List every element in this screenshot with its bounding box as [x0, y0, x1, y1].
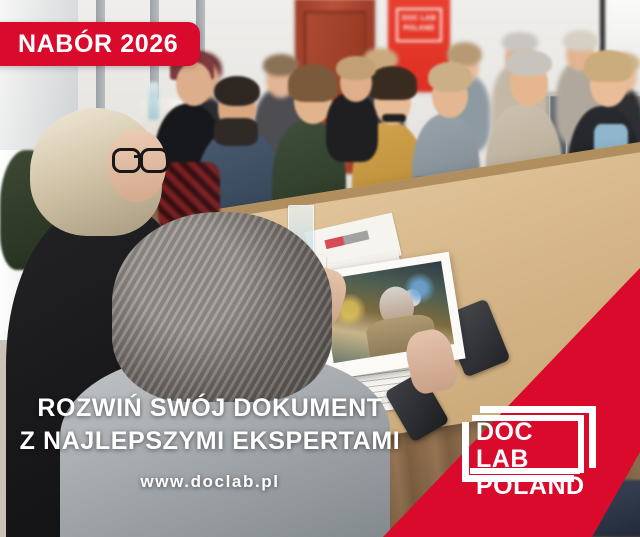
recruitment-badge-label: NABÓR 2026 — [18, 30, 178, 59]
audience-hair — [584, 50, 632, 82]
audience-hair — [288, 64, 338, 102]
audience-hair — [214, 76, 260, 106]
document-logo-mark — [324, 230, 369, 249]
audience-hair — [502, 32, 538, 52]
water-bottle — [148, 82, 159, 120]
headline-line-2: Z NAJLEPSZYMI EKSPERTAMI — [0, 425, 420, 458]
logo-frame-segment — [480, 406, 596, 413]
audience-member — [326, 92, 378, 162]
choker — [382, 114, 406, 122]
audience-hair — [336, 56, 376, 80]
banner-logo: DOC LAB POLAND — [396, 8, 442, 42]
audience-hair — [506, 50, 552, 76]
doc-lab-poland-logo: DOC LAB POLAND — [462, 406, 596, 488]
banner-logo-line2: POLAND — [396, 24, 442, 33]
headline-line-1: ROZWIŃ SWÓJ DOKUMENT — [0, 392, 420, 425]
glasses-bridge — [134, 155, 142, 158]
beard — [214, 118, 258, 146]
participant-grey-hair — [112, 212, 332, 402]
banner-logo-line1: DOC LAB — [396, 14, 442, 23]
recruitment-badge: NABÓR 2026 — [0, 22, 200, 66]
logo-frame-segment — [462, 422, 469, 482]
website-url[interactable]: www.doclab.pl — [0, 472, 420, 492]
logo-frame-segment — [589, 406, 596, 468]
logo-wordmark: DOC LAB POLAND — [476, 419, 588, 500]
glasses-lens — [140, 148, 169, 173]
audience-hair — [563, 30, 598, 51]
audience-face — [176, 62, 212, 106]
headline-block: ROZWIŃ SWÓJ DOKUMENT Z NAJLEPSZYMI EKSPE… — [0, 392, 420, 492]
logo-line-1: DOC LAB — [476, 419, 588, 473]
eyeglasses-icon — [112, 148, 168, 168]
poster-image: DOC LAB POLAND — [0, 0, 640, 537]
logo-line-2: POLAND — [476, 473, 588, 500]
glasses-lens — [112, 148, 141, 173]
audience-hair — [428, 62, 472, 92]
